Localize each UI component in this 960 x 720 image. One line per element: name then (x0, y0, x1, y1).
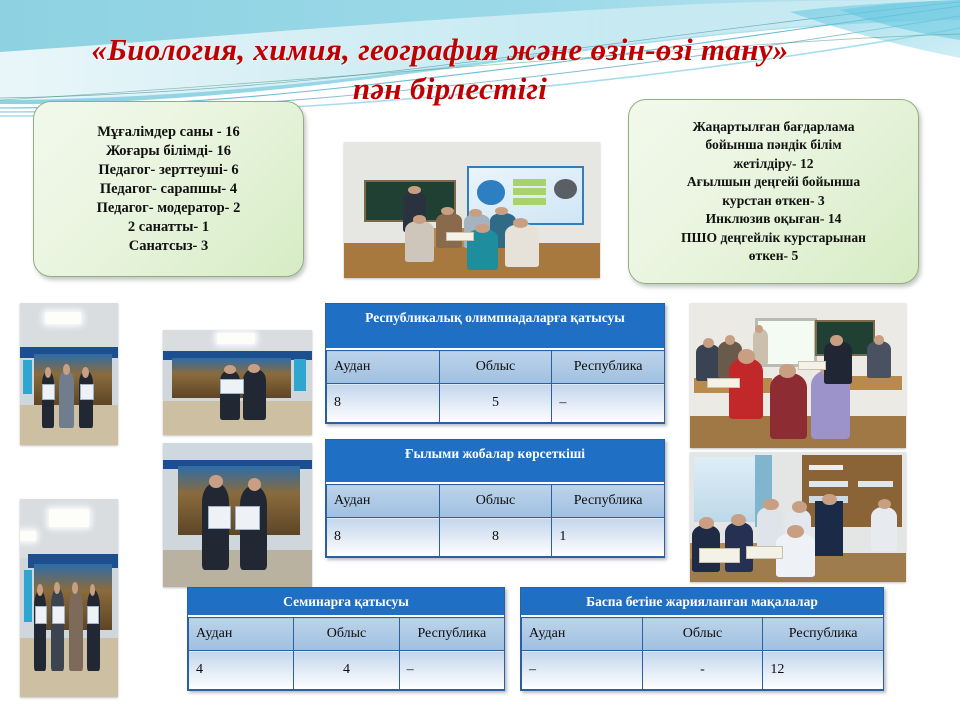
column-header-region: Облыс (294, 618, 399, 651)
info-line: жетілдіру- 12 (637, 155, 910, 174)
table-header-row: Аудан Облыс Республика (327, 351, 665, 384)
table-header-row: Аудан Облыс Республика (327, 485, 665, 518)
table-grid: Аудан Облыс Республика 8 5 – (326, 350, 665, 423)
column-header-region: Облыс (439, 351, 552, 384)
info-line: курстан өткен- 3 (637, 192, 910, 211)
info-line: бойынша пәндік білім (637, 136, 910, 155)
info-line: Жаңартылған бағдарлама (637, 118, 910, 137)
table-title: Республикалық олимпиадаларға қатысуы (326, 304, 664, 350)
photo-pupils-reading-library (690, 452, 906, 582)
column-header-district: Аудан (522, 618, 643, 651)
cell-district: 4 (189, 651, 294, 690)
info-line: ПШО деңгейлік курстарынан (637, 229, 910, 248)
column-header-region: Облыс (439, 485, 552, 518)
cell-region: 8 (439, 518, 552, 557)
photo-award-man-and-woman-certificates (163, 443, 312, 587)
table-row: 4 4 – (189, 651, 505, 690)
info-line: Педагог- зерттеуші- 6 (42, 161, 295, 180)
photo-award-ceremony-four-people (20, 499, 118, 697)
info-line: Инклюзив оқыған- 14 (637, 210, 910, 229)
table-header-row: Аудан Облыс Республика (189, 618, 505, 651)
cell-region: 4 (294, 651, 399, 690)
cell-district: – (522, 651, 643, 690)
cell-republic: 12 (763, 651, 884, 690)
column-header-district: Аудан (327, 351, 440, 384)
presentation-slide: «Биология, химия, география және өзін-өз… (0, 0, 960, 720)
table-scientific-projects: Ғылыми жобалар көрсеткіші Аудан Облыс Ре… (325, 439, 665, 558)
table-title: Семинарға қатысуы (188, 588, 504, 617)
column-header-district: Аудан (327, 485, 440, 518)
table-header-row: Аудан Облыс Республика (522, 618, 884, 651)
info-box-staff-counts: Мұғалімдер саны - 16 Жоғары білімді- 16 … (33, 101, 304, 277)
photo-seminar-interactive-whiteboard (690, 303, 906, 448)
table-row: 8 5 – (327, 384, 665, 423)
table-grid: Аудан Облыс Республика 8 8 1 (326, 484, 665, 557)
cell-region: 5 (439, 384, 552, 423)
photo-teachers-meeting-classroom (344, 142, 600, 278)
cell-republic: – (399, 651, 504, 690)
column-header-region: Облыс (642, 618, 763, 651)
table-published-articles: Баспа бетіне жарияланған мақалалар Аудан… (520, 587, 884, 691)
info-line: Мұғалімдер саны - 16 (42, 123, 295, 142)
photo-award-two-women-certificate (163, 330, 312, 435)
info-line: Педагог- сарапшы- 4 (42, 180, 295, 199)
column-header-republic: Республика (399, 618, 504, 651)
info-line: 2 санатты- 1 (42, 218, 295, 237)
table-grid: Аудан Облыс Республика 4 4 – (188, 617, 505, 690)
cell-republic: 1 (552, 518, 665, 557)
table-row: 8 8 1 (327, 518, 665, 557)
info-line: Педагог- модератор- 2 (42, 199, 295, 218)
info-box-training-counts: Жаңартылған бағдарлама бойынша пәндік бі… (628, 99, 919, 284)
cell-region: - (642, 651, 763, 690)
table-title: Баспа бетіне жарияланған мақалалар (521, 588, 883, 617)
table-row: – - 12 (522, 651, 884, 690)
photo-award-ceremony-three-people (20, 303, 118, 445)
table-seminar-participation: Семинарға қатысуы Аудан Облыс Республика… (187, 587, 505, 691)
table-title: Ғылыми жобалар көрсеткіші (326, 440, 664, 484)
column-header-republic: Республика (763, 618, 884, 651)
cell-district: 8 (327, 518, 440, 557)
info-line: өткен- 5 (637, 247, 910, 266)
table-olympiad-participation: Республикалық олимпиадаларға қатысуы Ауд… (325, 303, 665, 424)
info-line: Жоғары білімді- 16 (42, 142, 295, 161)
info-line: Ағылшын деңгейі бойынша (637, 173, 910, 192)
column-header-republic: Республика (552, 485, 665, 518)
table-grid: Аудан Облыс Республика – - 12 (521, 617, 884, 690)
cell-republic: – (552, 384, 665, 423)
info-line: Санатсыз- 3 (42, 237, 295, 256)
column-header-district: Аудан (189, 618, 294, 651)
column-header-republic: Республика (552, 351, 665, 384)
cell-district: 8 (327, 384, 440, 423)
